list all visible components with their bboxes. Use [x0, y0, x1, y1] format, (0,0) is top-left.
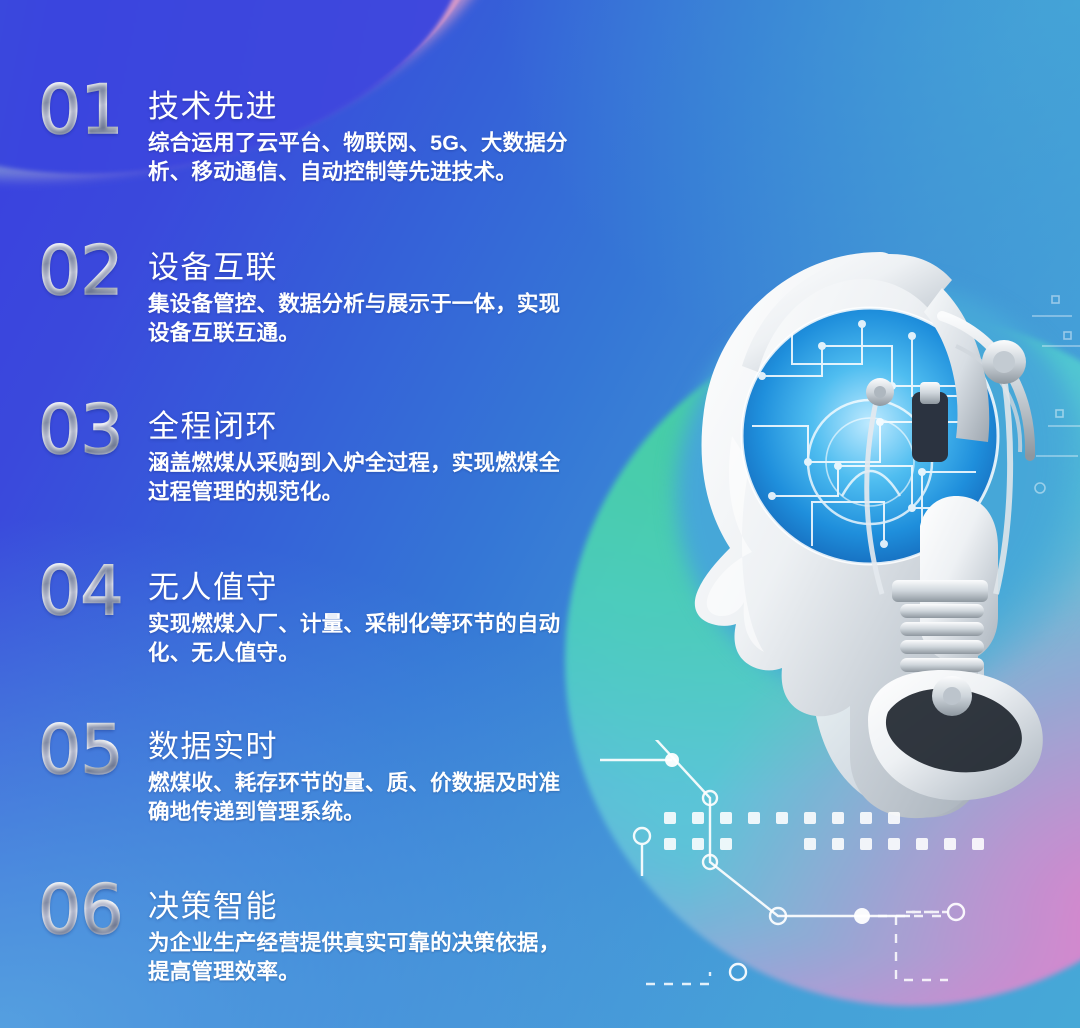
feature-list: 01 技术先进 综合运用了云平台、物联网、5G、大数据分析、移动通信、自动控制等… — [0, 0, 640, 1028]
feature-heading-05: 数据实时 — [148, 730, 638, 764]
feature-number-01: 01 — [38, 78, 148, 143]
feature-heading-01: 技术先进 — [148, 90, 638, 124]
gradient-blob-ring — [565, 316, 1080, 1006]
poster-canvas: 01 技术先进 综合运用了云平台、物联网、5G、大数据分析、移动通信、自动控制等… — [0, 0, 1080, 1028]
feature-description-03: 涵盖燃煤从采购到入炉全过程，实现燃煤全过程管理的规范化。 — [148, 449, 580, 507]
circuit-decoration — [600, 740, 1080, 990]
feature-number-04: 04 — [38, 559, 148, 624]
feature-item-06: 06 决策智能 为企业生产经营提供真实可靠的决策依据，提高管理效率。 — [38, 884, 638, 988]
feature-number-06: 06 — [38, 878, 148, 943]
feature-body-05: 数据实时 燃煤收、耗存环节的量、质、价数据及时准确地传递到管理系统。 — [148, 724, 638, 828]
feature-body-03: 全程闭环 涵盖燃煤从采购到入炉全过程，实现燃煤全过程管理的规范化。 — [148, 404, 638, 508]
feature-description-01: 综合运用了云平台、物联网、5G、大数据分析、移动通信、自动控制等先进技术。 — [148, 129, 580, 187]
feature-body-06: 决策智能 为企业生产经营提供真实可靠的决策依据，提高管理效率。 — [148, 884, 638, 988]
ai-robot-head-illustration — [612, 196, 1080, 896]
feature-body-01: 技术先进 综合运用了云平台、物联网、5G、大数据分析、移动通信、自动控制等先进技… — [148, 84, 638, 188]
feature-item-02: 02 设备互联 集设备管控、数据分析与展示于一体，实现设备互联互通。 — [38, 245, 638, 349]
feature-number-03: 03 — [38, 398, 148, 463]
feature-heading-02: 设备互联 — [148, 251, 638, 285]
feature-description-05: 燃煤收、耗存环节的量、质、价数据及时准确地传递到管理系统。 — [148, 769, 580, 827]
feature-heading-04: 无人值守 — [148, 571, 638, 605]
feature-body-04: 无人值守 实现燃煤入厂、计量、采制化等环节的自动化、无人值守。 — [148, 565, 638, 669]
feature-item-05: 05 数据实时 燃煤收、耗存环节的量、质、价数据及时准确地传递到管理系统。 — [38, 724, 638, 828]
feature-item-01: 01 技术先进 综合运用了云平台、物联网、5G、大数据分析、移动通信、自动控制等… — [38, 84, 638, 188]
feature-number-05: 05 — [38, 718, 148, 783]
feature-body-02: 设备互联 集设备管控、数据分析与展示于一体，实现设备互联互通。 — [148, 245, 638, 349]
feature-number-02: 02 — [38, 239, 148, 304]
feature-description-04: 实现燃煤入厂、计量、采制化等环节的自动化、无人值守。 — [148, 610, 580, 668]
feature-description-06: 为企业生产经营提供真实可靠的决策依据，提高管理效率。 — [148, 929, 580, 987]
feature-description-02: 集设备管控、数据分析与展示于一体，实现设备互联互通。 — [148, 290, 580, 348]
gradient-blob-hole — [676, 282, 1080, 706]
feature-heading-03: 全程闭环 — [148, 410, 638, 444]
feature-item-03: 03 全程闭环 涵盖燃煤从采购到入炉全过程，实现燃煤全过程管理的规范化。 — [38, 404, 638, 508]
feature-item-04: 04 无人值守 实现燃煤入厂、计量、采制化等环节的自动化、无人值守。 — [38, 565, 638, 669]
feature-heading-06: 决策智能 — [148, 890, 638, 924]
